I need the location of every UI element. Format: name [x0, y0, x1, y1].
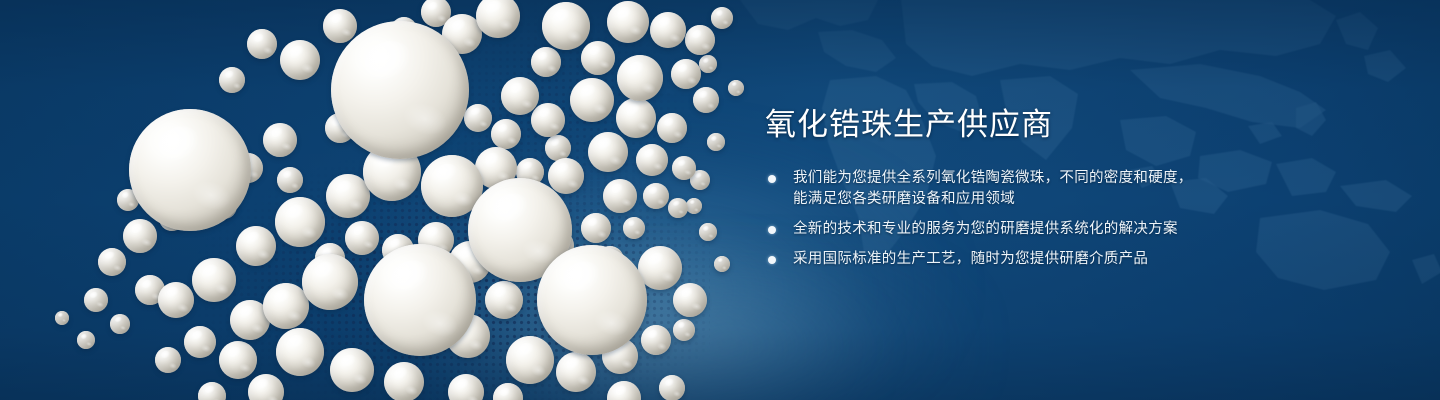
bullet-text-3-line1: 采用国际标准的生产工艺，随时为您提供研磨介质产品: [793, 251, 1148, 267]
bullet-item-2: 全新的技术和专业的服务为您的研磨提供系统化的解决方案: [765, 219, 1285, 240]
bullet-item-3: 采用国际标准的生产工艺，随时为您提供研磨介质产品: [765, 249, 1285, 270]
bullet-text-2-line1: 全新的技术和专业的服务为您的研磨提供系统化的解决方案: [793, 221, 1178, 237]
bullet-dot-icon: [768, 256, 776, 264]
bullet-dot-icon: [768, 226, 776, 234]
bullet-item-1: 我们能为您提供全系列氧化锆陶瓷微珠，不同的密度和硬度， 能满足您各类研磨设备和应…: [765, 168, 1285, 210]
bullet-dot-icon: [768, 175, 776, 183]
bullet-text-1-line1: 我们能为您提供全系列氧化锆陶瓷微珠，不同的密度和硬度，: [793, 170, 1193, 186]
bullet-text-1-line2: 能满足您各类研磨设备和应用领域: [793, 189, 1285, 210]
banner-headline: 氧化锆珠生产供应商: [765, 108, 1285, 142]
banner-content: 氧化锆珠生产供应商 我们能为您提供全系列氧化锆陶瓷微珠，不同的密度和硬度， 能满…: [765, 108, 1285, 270]
hero-banner: 氧化锆珠生产供应商 我们能为您提供全系列氧化锆陶瓷微珠，不同的密度和硬度， 能满…: [0, 0, 1440, 400]
banner-bullet-list: 我们能为您提供全系列氧化锆陶瓷微珠，不同的密度和硬度， 能满足您各类研磨设备和应…: [765, 168, 1285, 270]
